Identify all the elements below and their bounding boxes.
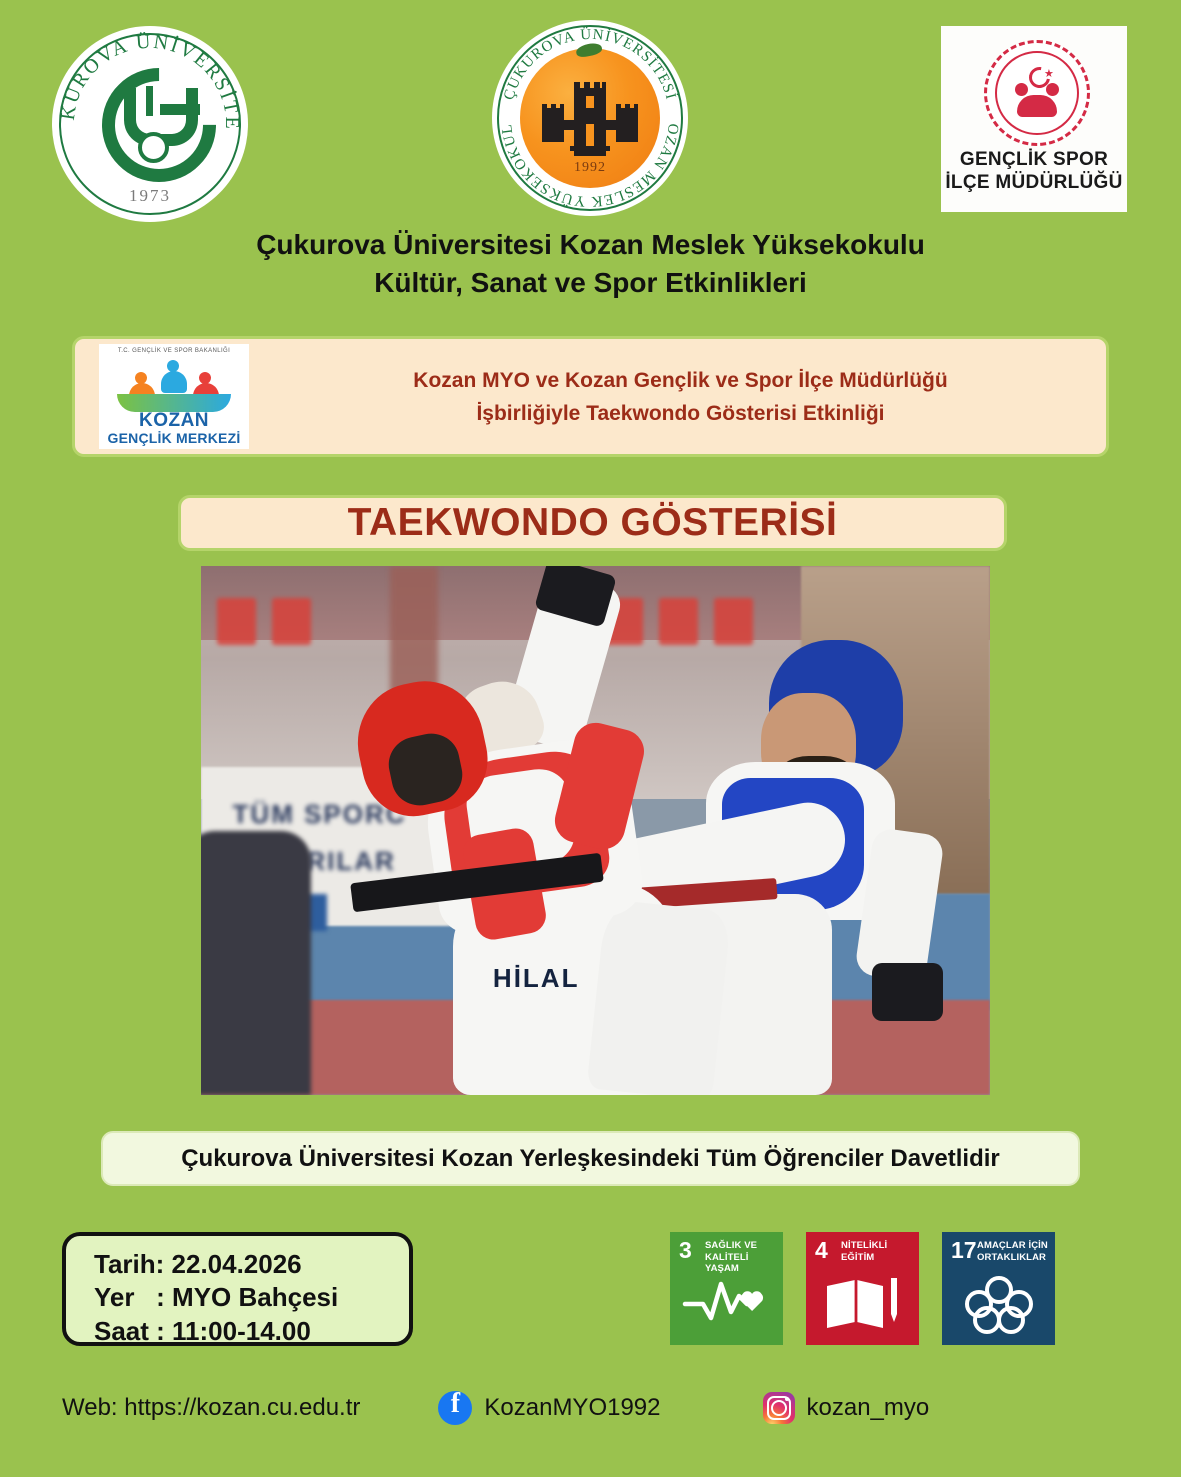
sdg-label: NİTELİKLİ EĞİTİM	[841, 1240, 914, 1263]
youth-center-line1: KOZAN	[99, 410, 249, 432]
facebook-link[interactable]: KozanMYO1992	[438, 1391, 660, 1425]
event-details-box: Tarih: 22.04.2026 Yer : MYO Bahçesi Saat…	[62, 1232, 413, 1346]
ministry-arc-text: T.C. GENÇLİK VE SPOR BAKANLIĞI	[99, 348, 249, 354]
sdg-number: 17	[951, 1239, 977, 1262]
logo-year: 1973	[52, 186, 248, 206]
open-book-pencil-icon	[806, 1274, 919, 1340]
cukurova-universitesi-logo: ÇUKUROVA ÜNİVERSİTESİ 1973	[52, 26, 248, 222]
youth-sports-line2: İLÇE MÜDÜRLÜĞÜ	[945, 172, 1122, 193]
footer: Web: https://kozan.cu.edu.tr KozanMYO199…	[62, 1385, 1122, 1431]
photo-referee	[201, 831, 311, 1096]
kozan-genclik-merkezi-logo: T.C. GENÇLİK VE SPOR BAKANLIĞI KOZAN GEN…	[99, 344, 249, 449]
people-icon	[129, 358, 219, 398]
youth-sports-line1: GENÇLİK SPOR	[960, 149, 1108, 170]
sdg-4-quality-education: 4 NİTELİKLİ EĞİTİM	[806, 1232, 919, 1345]
event-time: Saat : 11:00-14.00	[94, 1315, 409, 1348]
invitation-text: Çukurova Üniversitesi Kozan Yerleşkesind…	[181, 1145, 1000, 1173]
instagram-handle: kozan_myo	[807, 1394, 930, 1422]
castle-icon	[534, 80, 646, 158]
collaboration-line2: İşbirliğiyle Taekwondo Gösterisi Etkinli…	[275, 398, 1086, 431]
facebook-handle: KozanMYO1992	[484, 1394, 660, 1422]
five-rings-icon	[942, 1274, 1055, 1340]
collaboration-line1: Kozan MYO ve Kozan Gençlik ve Spor İlçe …	[275, 365, 1086, 398]
photo-athlete-red-name: HİLAL	[493, 963, 580, 994]
photo-athlete-red-leg2	[586, 898, 731, 1095]
instagram-link[interactable]: kozan_myo	[763, 1392, 930, 1424]
sdg-number: 4	[815, 1239, 828, 1262]
kozan-meslek-yuksekokulu-logo: ÇUKUROVA ÜNİVERSİTESİ KOZAN MESLEK YÜKSE…	[492, 20, 688, 216]
facebook-icon	[438, 1391, 472, 1425]
page-title: Çukurova Üniversitesi Kozan Meslek Yükse…	[0, 226, 1181, 302]
event-title: TAEKWONDO GÖSTERİSİ	[348, 501, 838, 545]
instagram-icon	[763, 1392, 795, 1424]
event-title-banner: TAEKWONDO GÖSTERİSİ	[178, 495, 1007, 551]
page-title-line1: Çukurova Üniversitesi Kozan Meslek Yükse…	[0, 226, 1181, 264]
sdg-label: AMAÇLAR İÇİN ORTAKLIKLAR	[977, 1240, 1050, 1263]
event-place: Yer : MYO Bahçesi	[94, 1281, 409, 1314]
heartbeat-icon	[670, 1274, 783, 1340]
logo-row: ÇUKUROVA ÜNİVERSİTESİ 1973 ÇUKUR	[0, 0, 1181, 215]
page-title-line2: Kültür, Sanat ve Spor Etkinlikleri	[0, 264, 1181, 302]
sdg-icon-group: 3 SAĞLIK VE KALİTELİ YAŞAM 4 NİTELİKLİ E…	[670, 1232, 1056, 1345]
website-link[interactable]: Web: https://kozan.cu.edu.tr	[62, 1394, 360, 1422]
youth-center-line2: GENÇLİK MERKEZİ	[99, 430, 249, 446]
genclik-spor-ilce-mudurlugu-logo: ★ GENÇLİK SPOR İLÇE MÜDÜRLÜĞÜ	[941, 26, 1127, 212]
sdg-label: SAĞLIK VE KALİTELİ YAŞAM	[705, 1240, 778, 1275]
collaboration-text: Kozan MYO ve Kozan Gençlik ve Spor İlçe …	[275, 365, 1086, 430]
sdg-17-partnerships: 17 AMAÇLAR İÇİN ORTAKLIKLAR	[942, 1232, 1055, 1345]
youth-sports-label: GENÇLİK SPOR İLÇE MÜDÜRLÜĞÜ	[941, 148, 1127, 194]
university-emblem-icon	[94, 66, 206, 176]
sdg-3-good-health: 3 SAĞLIK VE KALİTELİ YAŞAM	[670, 1232, 783, 1345]
taekwondo-match-photo: TÜM SPORC BAŞARILAR HİLAL	[201, 566, 990, 1095]
event-date: Tarih: 22.04.2026	[94, 1248, 409, 1281]
sdg-number: 3	[679, 1239, 692, 1262]
photo-athlete-blue-glove2	[872, 963, 943, 1021]
logo-year: 1992	[492, 160, 688, 176]
invitation-banner: Çukurova Üniversitesi Kozan Yerleşkesind…	[101, 1131, 1080, 1186]
collaboration-banner: T.C. GENÇLİK VE SPOR BAKANLIĞI KOZAN GEN…	[72, 336, 1109, 457]
ministry-seal-icon: ★	[984, 40, 1090, 146]
